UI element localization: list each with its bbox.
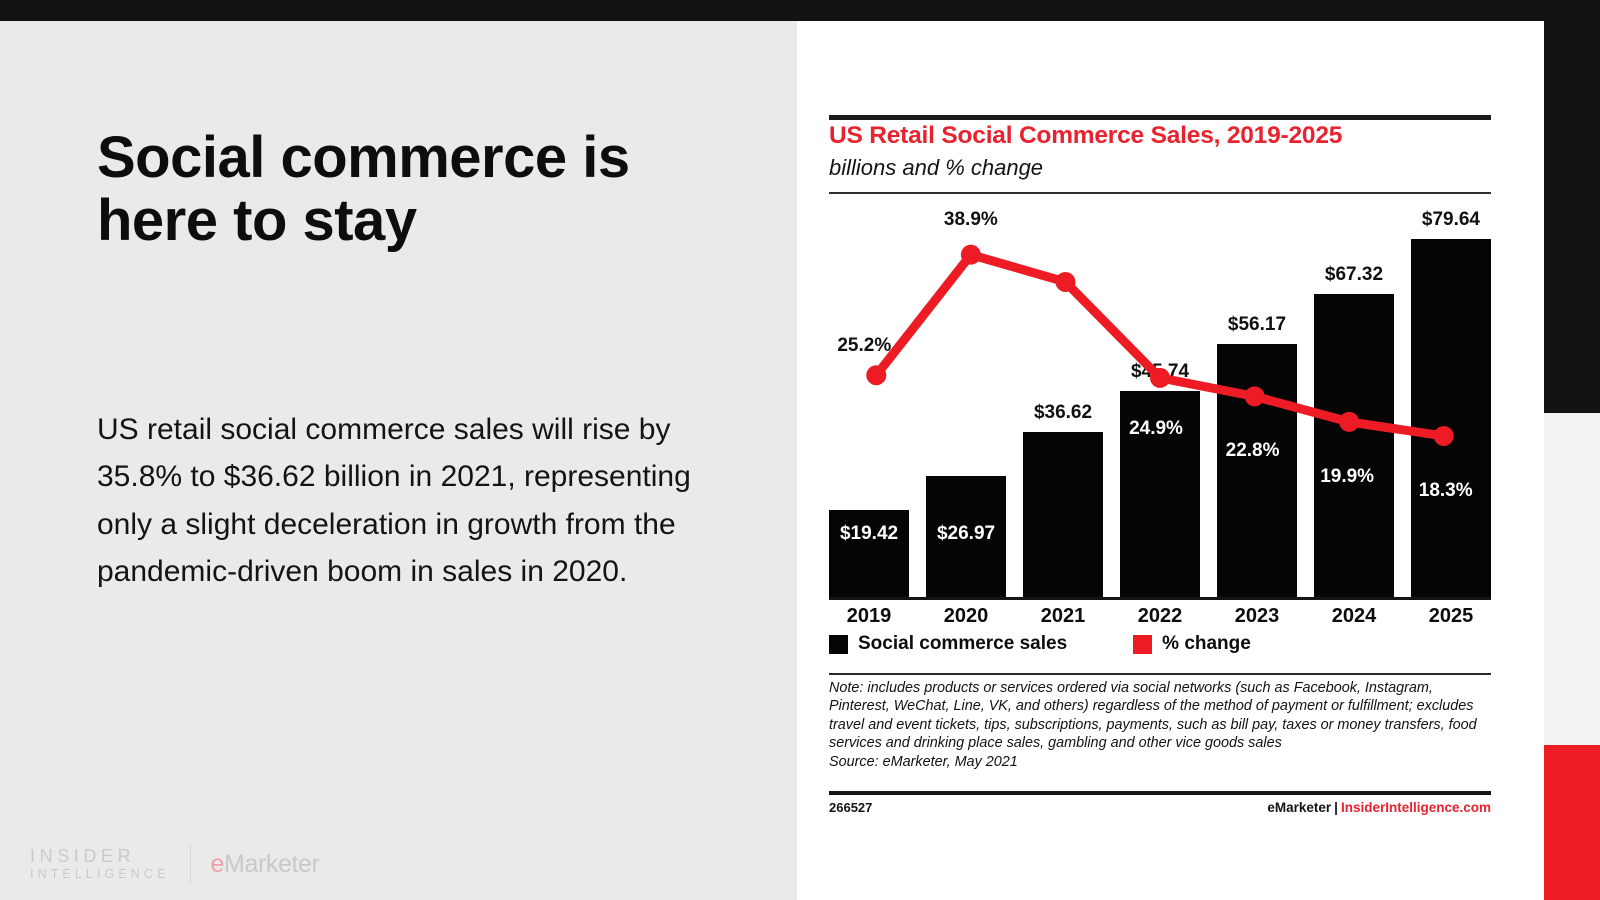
right-edge-gray-strip bbox=[1544, 413, 1600, 745]
chart-title: US Retail Social Commerce Sales, 2019-20… bbox=[829, 122, 1342, 150]
footer-url: InsiderIntelligence.com bbox=[1341, 800, 1491, 815]
percent-change-label: 19.9% bbox=[1320, 466, 1374, 488]
logo-line-intelligence: INTELLIGENCE bbox=[30, 867, 170, 883]
percent-change-label: 18.3% bbox=[1419, 480, 1473, 502]
percent-change-label: 24.9% bbox=[1129, 418, 1183, 440]
chart-id: 266527 bbox=[829, 800, 872, 815]
page-title: Social commerce is here to stay bbox=[97, 126, 737, 252]
chart-legend: Social commerce sales % change bbox=[829, 633, 1251, 655]
right-edge-red-strip bbox=[1544, 745, 1600, 900]
brand-logo: INSIDER INTELLIGENCE eMarketer bbox=[30, 844, 319, 884]
chart-panel: US Retail Social Commerce Sales, 2019-20… bbox=[797, 21, 1544, 900]
emarketer-logo: eMarketer bbox=[211, 850, 320, 879]
x-axis-tick-label: 2023 bbox=[1217, 605, 1297, 628]
logo-line-insider: INSIDER bbox=[30, 845, 170, 868]
legend-swatch-red-icon bbox=[1133, 635, 1152, 654]
body-paragraph: US retail social commerce sales will ris… bbox=[97, 406, 697, 596]
chart-plot-area: $19.42$26.97$36.62$45.74$56.17$67.32$79.… bbox=[829, 201, 1491, 597]
chart-subtitle: billions and % change bbox=[829, 155, 1043, 181]
legend-label-pct: % change bbox=[1162, 633, 1251, 655]
legend-swatch-black-icon bbox=[829, 635, 848, 654]
footer-separator: | bbox=[1331, 800, 1341, 815]
emarketer-logo-e: e bbox=[211, 850, 225, 878]
note-rule bbox=[829, 673, 1491, 675]
logo-divider bbox=[190, 844, 191, 884]
x-axis-tick-label: 2024 bbox=[1314, 605, 1394, 628]
x-axis-tick-label: 2021 bbox=[1023, 605, 1103, 628]
emarketer-logo-rest: Marketer bbox=[224, 850, 319, 878]
slide-canvas: Social commerce is here to stay US retai… bbox=[0, 0, 1600, 900]
x-axis-tick-label: 2025 bbox=[1411, 605, 1491, 628]
x-axis-labels: 2019202020212022202320242025 bbox=[829, 605, 1491, 628]
footer-rule bbox=[829, 791, 1491, 795]
x-axis-tick-label: 2019 bbox=[829, 605, 909, 628]
percent-change-label: 38.9% bbox=[944, 209, 998, 231]
legend-label-sales: Social commerce sales bbox=[858, 633, 1067, 655]
percent-change-label: 25.2% bbox=[837, 335, 891, 357]
legend-item-sales: Social commerce sales bbox=[829, 633, 1067, 655]
chart-source: Source: eMarketer, May 2021 bbox=[829, 753, 1497, 771]
left-text-panel: Social commerce is here to stay US retai… bbox=[0, 21, 797, 900]
right-edge-dark-strip bbox=[1544, 21, 1600, 413]
chart-header-rule bbox=[829, 192, 1491, 194]
legend-item-pct: % change bbox=[1133, 633, 1251, 655]
percent-change-labels: 25.2%38.9%35.8%24.9%22.8%19.9%18.3% bbox=[829, 201, 1491, 597]
chart-note-text: Note: includes products or services orde… bbox=[829, 679, 1497, 753]
footer-brand-name: eMarketer bbox=[1267, 800, 1331, 815]
top-bar bbox=[0, 0, 1600, 21]
footer-attribution: eMarketer|InsiderIntelligence.com bbox=[1267, 800, 1491, 815]
chart-note: Note: includes products or services orde… bbox=[829, 679, 1497, 771]
x-axis-line bbox=[829, 597, 1491, 600]
chart-top-rule bbox=[829, 115, 1491, 120]
x-axis-tick-label: 2020 bbox=[926, 605, 1006, 628]
insider-intelligence-logo: INSIDER INTELLIGENCE bbox=[30, 845, 170, 883]
chart-footer: 266527 eMarketer|InsiderIntelligence.com bbox=[829, 800, 1491, 815]
percent-change-label: 22.8% bbox=[1226, 440, 1280, 462]
x-axis-tick-label: 2022 bbox=[1120, 605, 1200, 628]
percent-change-label: 35.8% bbox=[1032, 320, 1086, 342]
